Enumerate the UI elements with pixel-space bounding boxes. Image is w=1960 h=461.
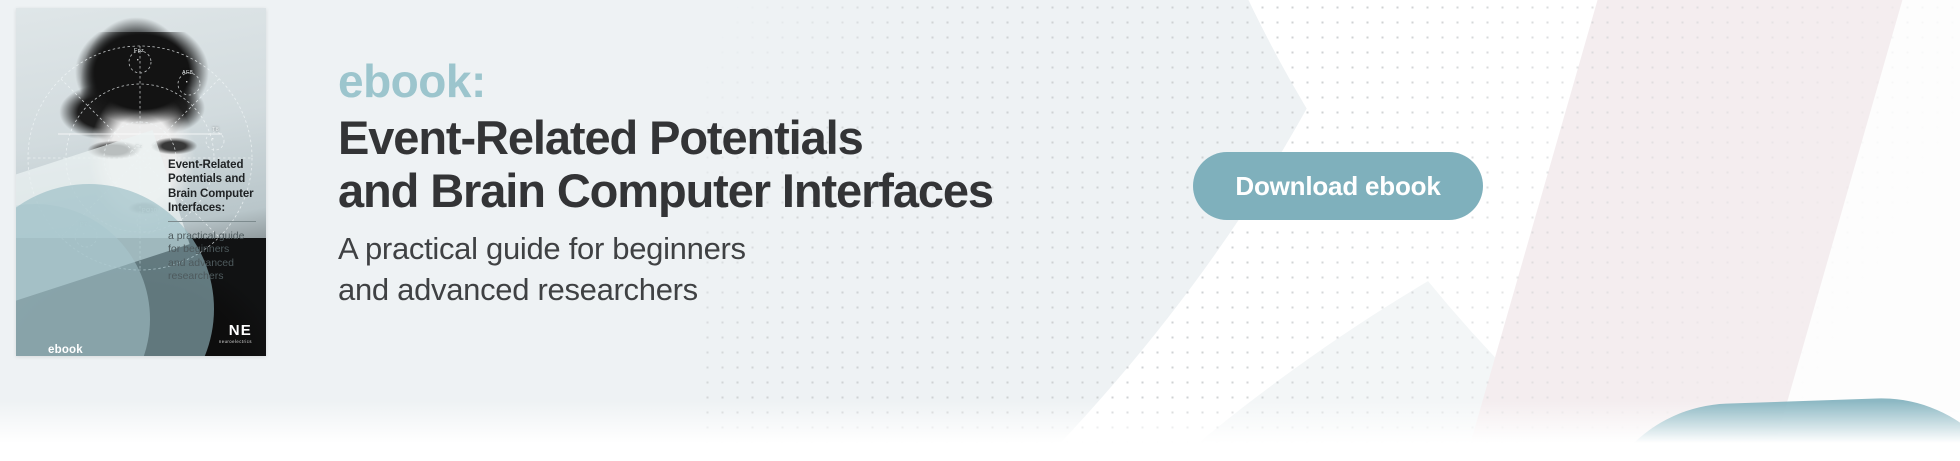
publisher-logo: NE neuroelectrics bbox=[219, 323, 252, 344]
cover-subtitle-line-1: a practical guide bbox=[168, 230, 266, 243]
publisher-logo-wordmark: neuroelectrics bbox=[219, 339, 252, 344]
cover-subtitle-line-2: for beginners bbox=[168, 243, 266, 256]
cover-divider bbox=[168, 221, 256, 222]
ebook-cover-thumbnail[interactable]: Fpz AF8 T8 Cz PO10 P7 Event-Related Pote… bbox=[16, 8, 266, 356]
headline-line-2: and Brain Computer Interfaces bbox=[338, 165, 1098, 218]
cover-subtitle-line-4: researchers bbox=[168, 270, 266, 283]
cover-subtitle-line-3: and advanced bbox=[168, 257, 266, 270]
electrode-label-af8: AF8 bbox=[182, 70, 193, 76]
cover-ebook-tag: ebook bbox=[48, 344, 83, 356]
download-ebook-button[interactable]: Download ebook bbox=[1193, 152, 1483, 220]
cover-subtitle: a practical guide for beginners and adva… bbox=[168, 230, 266, 284]
bottom-fade-overlay bbox=[0, 401, 1960, 461]
headline-line-1: Event-Related Potentials bbox=[338, 112, 1098, 165]
electrode-label-t8: T8 bbox=[212, 127, 219, 133]
publisher-logo-mark: NE bbox=[219, 323, 252, 338]
ebook-promo-banner: Fpz AF8 T8 Cz PO10 P7 Event-Related Pote… bbox=[0, 0, 1960, 461]
promo-copy: ebook: Event-Related Potentials and Brai… bbox=[338, 58, 1098, 309]
eyebrow-label: ebook: bbox=[338, 58, 1098, 104]
electrode-label-fpz: Fpz bbox=[134, 48, 144, 54]
subheadline-line-1: A practical guide for beginners bbox=[338, 229, 1098, 268]
subheadline-line-2: and advanced researchers bbox=[338, 270, 1098, 309]
cover-title: Event-Related Potentials and Brain Compu… bbox=[168, 158, 264, 216]
